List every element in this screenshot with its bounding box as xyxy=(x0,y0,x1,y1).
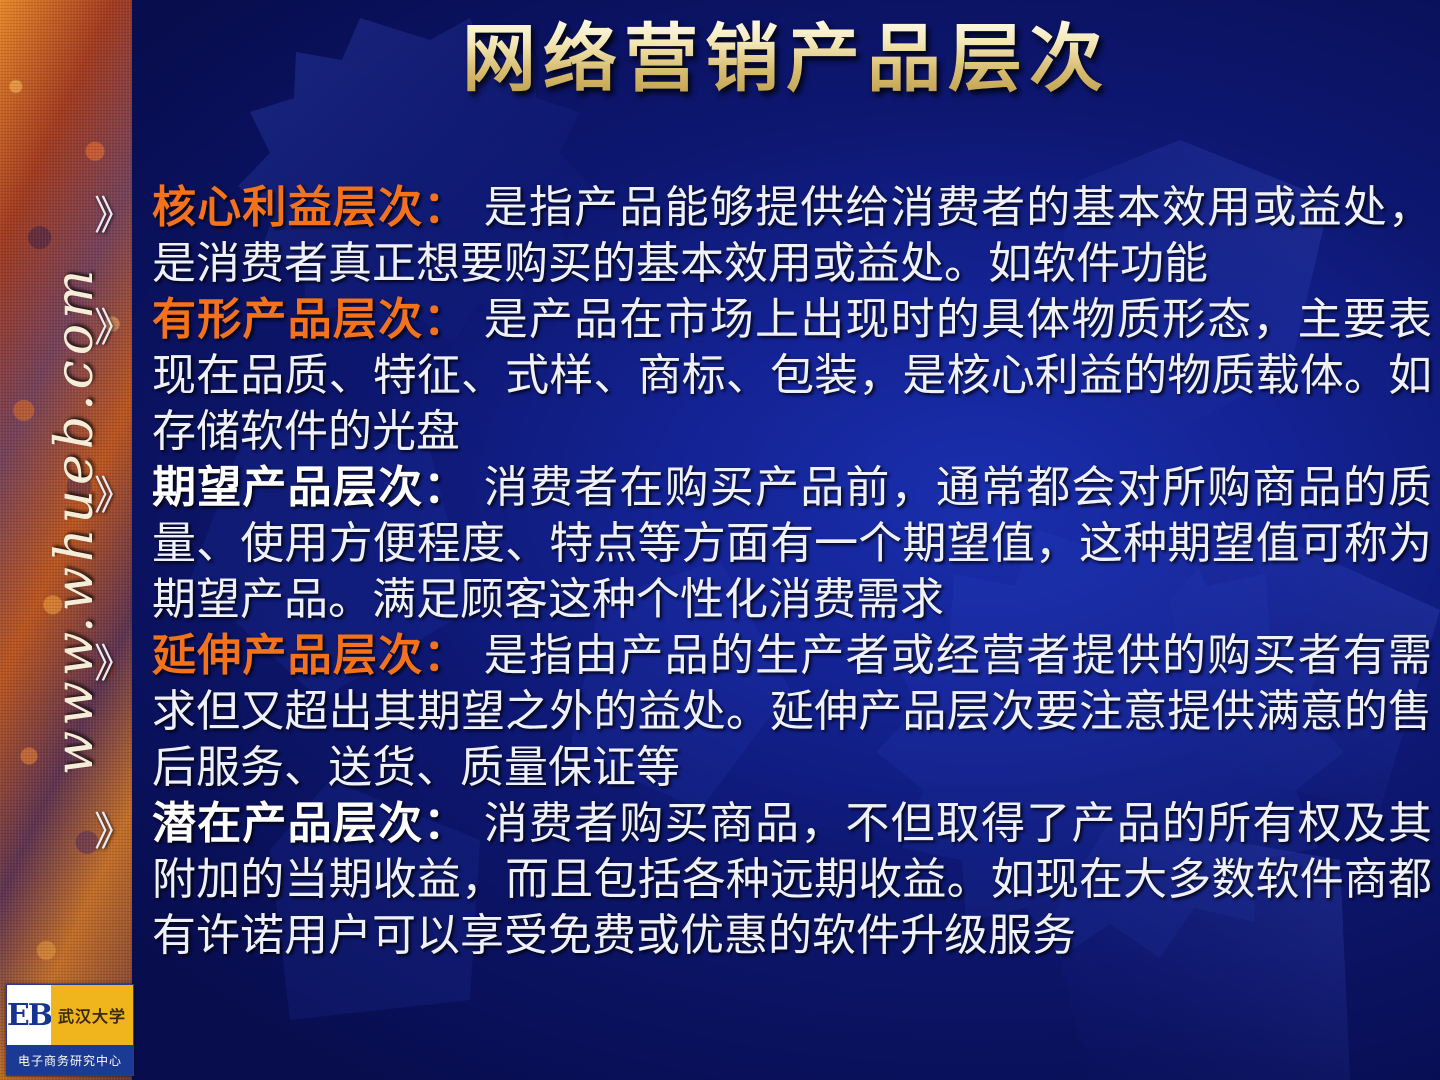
bullet-colon-4: ： xyxy=(423,630,468,681)
institution-logo: EB 武汉大学 电子商务研究中心 xyxy=(6,984,134,1076)
bullet-colon-1: ： xyxy=(423,182,468,233)
bullet-colon-5: ： xyxy=(423,798,468,849)
bullet-heading-4: 延伸产品层次 xyxy=(152,630,423,681)
bullet-marker-5: 》 xyxy=(94,812,134,852)
logo-eb-mark: EB xyxy=(7,985,51,1045)
logo-center-name: 电子商务研究中心 xyxy=(7,1045,133,1075)
bullet-heading-3: 期望产品层次 xyxy=(152,462,423,513)
bullet-heading-1: 核心利益层次 xyxy=(152,182,423,233)
bullet-marker-4: 》 xyxy=(94,644,134,684)
bullet-item-4: 延伸产品层次： 是指由产品的生产者或经营者提供的购买者有需求但又超出其期望之外的… xyxy=(132,628,1432,796)
bullet-item-2: 有形产品层次： 是产品在市场上出现时的具体物质形态，主要表现在品质、特征、式样、… xyxy=(132,292,1432,460)
bullet-colon-3: ： xyxy=(423,462,468,513)
bullet-marker-3: 》 xyxy=(94,476,134,516)
logo-top-row: EB 武汉大学 xyxy=(7,985,133,1045)
bullet-marker-2: 》 xyxy=(94,308,134,348)
sidebar-texture-band: www.whueb.com xyxy=(0,0,132,1080)
logo-university-name: 武汉大学 xyxy=(51,985,133,1045)
bullet-item-5: 潜在产品层次： 消费者购买商品，不但取得了产品的所有权及其附加的当期收益，而且包… xyxy=(132,796,1432,964)
bullet-marker-1: 》 xyxy=(94,196,134,236)
slide-title: 网络营销产品层次 xyxy=(132,16,1440,103)
presentation-slide: www.whueb.com 》 》 》 》 》 网络营销产品层次 核心利益层次：… xyxy=(0,0,1440,1080)
bullet-item-3: 期望产品层次： 消费者在购买产品前，通常都会对所购商品的质量、使用方便程度、特点… xyxy=(132,460,1432,628)
bullet-heading-2: 有形产品层次 xyxy=(152,294,423,345)
bullet-colon-2: ： xyxy=(423,294,468,345)
bullet-item-1: 核心利益层次： 是指产品能够提供给消费者的基本效用或益处，是消费者真正想要购买的… xyxy=(132,180,1432,292)
slide-body: 核心利益层次： 是指产品能够提供给消费者的基本效用或益处，是消费者真正想要购买的… xyxy=(132,180,1432,964)
bullet-heading-5: 潜在产品层次 xyxy=(152,798,423,849)
sidebar-dither-overlay xyxy=(0,0,132,1080)
